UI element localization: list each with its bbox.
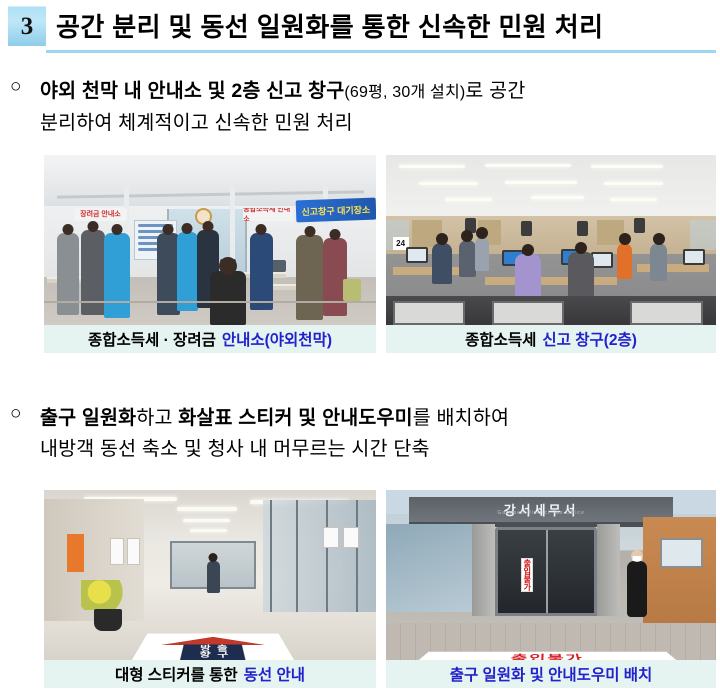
caption-1-dark-text: 종합소득세 · 장려금 (88, 328, 216, 350)
bullet-1-line-1: 야외 천막 내 안내소 및 2층 신고 창구(69평, 30개 설치)로 공간 (40, 76, 714, 108)
section-number-badge: 3 (8, 6, 46, 46)
caption-3-blue-text: 동선 안내 (244, 663, 305, 685)
entrance-pillar (472, 524, 495, 616)
bullet-2-text-b: 하고 (136, 407, 178, 429)
person-figure (515, 254, 541, 302)
bullet-marker-icon: ○ (10, 404, 21, 423)
person-figure (475, 237, 489, 271)
bullet-1-text-b: (69평, 30개 설치) (344, 84, 465, 101)
person-figure (207, 561, 220, 593)
bullet-2-line-1: 출구 일원화하고 화살표 스티커 및 안내도우미를 배치하여 (40, 403, 714, 434)
plant-pot (94, 609, 122, 631)
revolving-door (495, 527, 597, 615)
figure-lobby-floor-sticker: 출구방향 대형 스티커를 통한 동선 안내 (44, 490, 376, 688)
notice-sheet (323, 527, 340, 547)
floor-direction-sticker: 출구방향 (130, 634, 296, 660)
bullet-1-lines: 야외 천막 내 안내소 및 2층 신고 창구(69평, 30개 설치)로 공간 … (40, 76, 714, 139)
arrow-graphic: 출구방향 (154, 637, 272, 660)
person-figure (432, 243, 452, 284)
person-figure (323, 238, 347, 316)
page-title: 공간 분리 및 동선 일원화를 통한 신속한 민원 처리 (56, 7, 603, 44)
caption-3-dark-text: 대형 스티커를 통한 (115, 663, 238, 685)
person-figure (296, 235, 323, 320)
figure-row-2: 출구방향 대형 스티커를 통한 동선 안내 강서세무서 Gangseo Dist… (44, 490, 716, 688)
figure-outdoor-tent-information-desk: 장려금 안내소 종합소득세 안내소 신고창구 대기장소 (44, 155, 376, 353)
title-underline-rule (46, 50, 716, 53)
ceiling-light (177, 507, 237, 511)
person-figure (250, 233, 273, 310)
bullet-2-text-d: 를 배치하여 (413, 407, 509, 429)
photo-building-entrance: 강서세무서 Gangseo District Tax Office 출입불가 출… (386, 490, 716, 660)
foreground-monitor (393, 301, 466, 325)
building-name-sign-english: Gangseo District Tax Office (409, 510, 673, 516)
bullet-2-line-2: 내방객 동선 축소 및 청사 내 머무르는 시간 단축 (40, 434, 714, 465)
speaker-icon (577, 221, 588, 236)
bullet-1-line-2: 분리하여 체계적이고 신속한 민원 처리 (40, 108, 714, 139)
photo-outdoor-tent: 장려금 안내소 종합소득세 안내소 신고창구 대기장소 (44, 155, 376, 325)
bullet-2-text-c: 화살표 스티커 및 안내도우미 (178, 407, 413, 429)
wall-poster (67, 534, 84, 571)
figure-caption-3: 대형 스티커를 통한 동선 안내 (44, 660, 376, 688)
ceiling-light (190, 529, 227, 532)
window-mullion (356, 500, 358, 612)
person-figure (650, 243, 667, 280)
bullet-block-1: ○ 야외 천막 내 안내소 및 2층 신고 창구(69평, 30개 설치)로 공… (10, 76, 714, 139)
figure-caption-2: 종합소득세 신고 창구(2층) (386, 325, 716, 353)
ceiling-light (610, 198, 656, 201)
ceiling-light (591, 165, 664, 168)
window-mullion (326, 500, 328, 612)
ceiling-light (604, 182, 663, 185)
arrow-tail-label: 출구방향 (180, 645, 246, 660)
bullet-marker-icon: ○ (10, 77, 21, 96)
person-figure (568, 252, 594, 301)
figure-entrance-exit-unification: 강서세무서 Gangseo District Tax Office 출입불가 출… (386, 490, 716, 688)
door-divider (546, 530, 548, 612)
ceiling-light (531, 196, 584, 199)
window-mullion (270, 500, 272, 612)
floor-edge (44, 301, 376, 303)
ceiling-light (505, 181, 578, 184)
caption-4-blue-text: 출구 일원화 및 안내도우미 배치 (450, 663, 653, 685)
bullet-2-lines: 출구 일원화하고 화살표 스티커 및 안내도우미를 배치하여 내방객 동선 축소… (40, 403, 714, 465)
photo-office-interior: 24 (386, 155, 716, 325)
speaker-icon (521, 221, 532, 236)
person-figure (617, 243, 632, 279)
potted-plant (81, 580, 127, 610)
folding-chair (343, 279, 361, 301)
section-header: 3 공간 분리 및 동선 일원화를 통한 신속한 민원 처리 (0, 0, 720, 58)
bullet-1-text-c: 로 공간 (465, 80, 525, 102)
ceiling-light (445, 198, 491, 201)
caption-2-blue-text: 신고 창구(2층) (542, 328, 637, 350)
banner-incentive-desk: 장려금 안내소 (74, 208, 127, 221)
ceiling-light (399, 165, 465, 168)
speaker-icon (634, 218, 645, 233)
ceiling-light (485, 164, 571, 167)
figure-second-floor-counters: 24 종합소득 (386, 155, 716, 353)
glass-partition (690, 220, 716, 251)
guide-staff-person (627, 561, 647, 617)
facade-window (660, 538, 703, 569)
ceiling-light (183, 519, 229, 522)
document-page: 3 공간 분리 및 동선 일원화를 통한 신속한 민원 처리 ○ 야외 천막 내… (0, 0, 720, 699)
floor-no-entry-banner: 출입불가 (412, 651, 683, 660)
person-figure (104, 233, 130, 318)
banner-waiting-area: 신고창구 대기장소 (296, 198, 376, 223)
left-glass-facade (386, 524, 472, 612)
notice-sheet (127, 538, 140, 565)
figure-row-1: 장려금 안내소 종합소득세 안내소 신고창구 대기장소 (44, 155, 716, 353)
figure-caption-4: 출구 일원화 및 안내도우미 배치 (386, 660, 716, 688)
entrance-pillar (597, 524, 620, 616)
banner-income-tax-desk: 종합소득세 안내소 (243, 208, 293, 221)
face-mask-icon (632, 556, 641, 561)
notice-sheet (343, 527, 360, 547)
door-notice-sign: 출입불가 (521, 558, 533, 592)
bullet-block-2: ○ 출구 일원화하고 화살표 스티커 및 안내도우미를 배치하여 내방객 동선 … (10, 403, 714, 465)
caption-2-dark-text: 종합소득세 (465, 328, 536, 350)
computer-screen (406, 247, 428, 263)
desk-row (637, 264, 710, 272)
foreground-monitor (630, 301, 703, 325)
figure-caption-1: 종합소득세 · 장려금 안내소(야외천막) (44, 325, 376, 353)
entrance-canopy: 강서세무서 Gangseo District Tax Office (409, 497, 673, 528)
right-glass-wall (263, 500, 376, 612)
notice-sheet (110, 538, 123, 565)
photo-lobby-corridor: 출구방향 (44, 490, 376, 660)
right-brick-wall (643, 517, 716, 622)
foreground-monitor (492, 301, 565, 325)
caption-1-blue-text: 안내소(야외천막) (222, 328, 332, 350)
desk-row (485, 277, 617, 285)
person-figure (459, 240, 476, 277)
person-figure (177, 232, 198, 312)
computer-screen (591, 252, 613, 268)
bullet-1-text-a: 야외 천막 내 안내소 및 2층 신고 창구 (40, 80, 344, 102)
window-mullion (296, 500, 298, 612)
ceiling-light (419, 182, 478, 185)
person-figure (210, 271, 246, 325)
bullet-2-text-a: 출구 일원화 (40, 407, 136, 429)
computer-screen (683, 249, 705, 265)
